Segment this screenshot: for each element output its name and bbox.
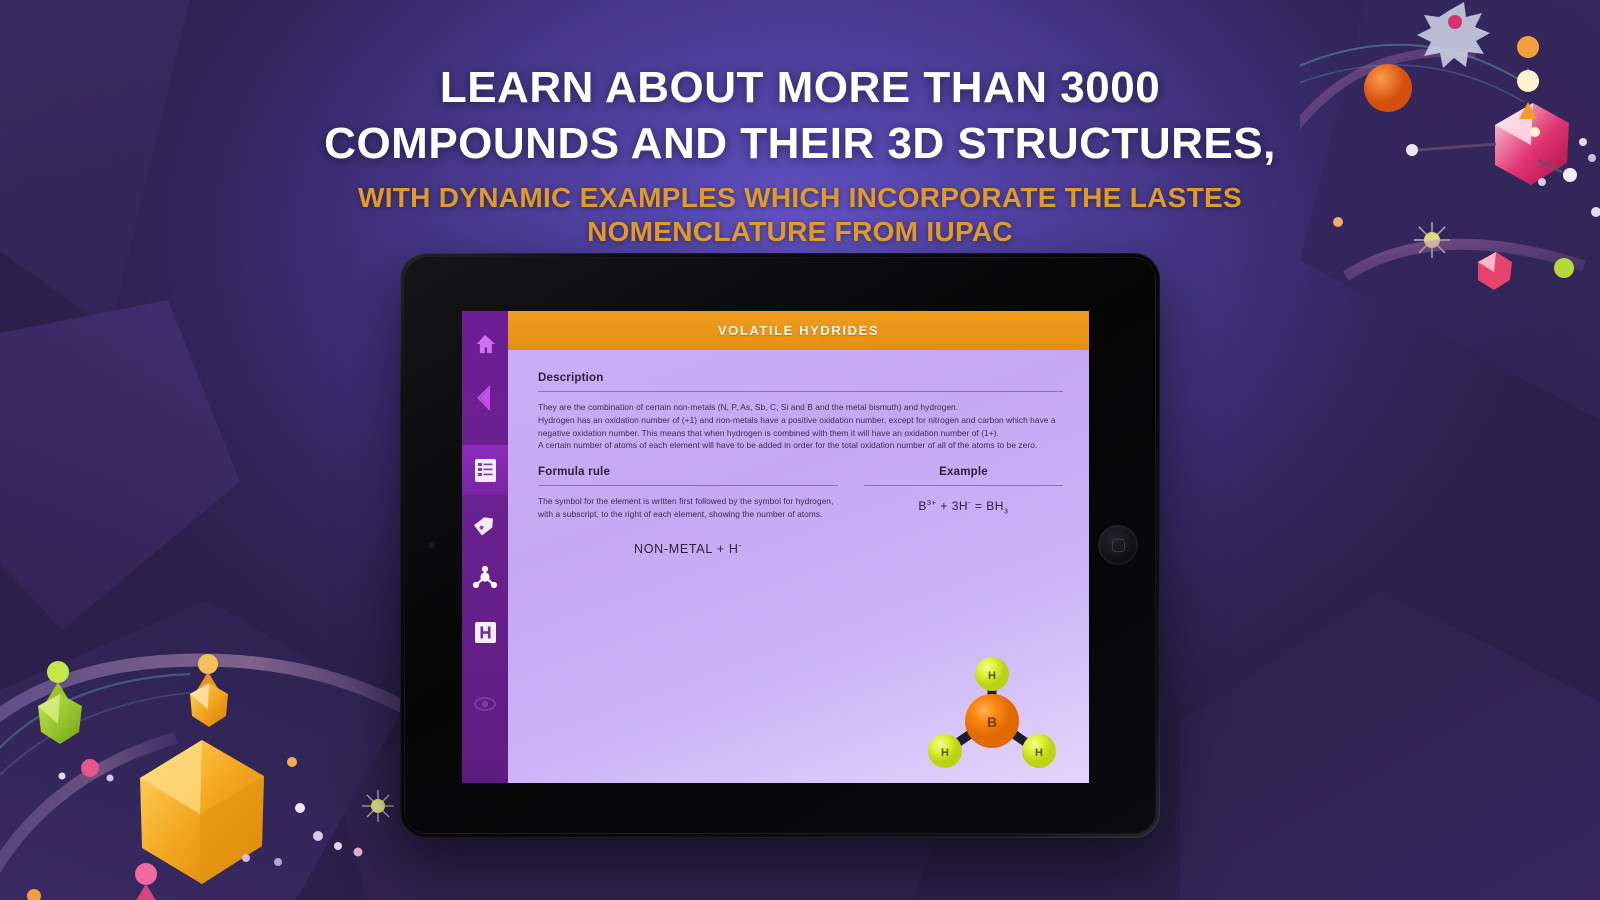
description-heading: Description: [538, 372, 1063, 384]
atom-hydrogen-right: H: [1022, 734, 1056, 768]
sidebar-item-home[interactable]: [462, 319, 508, 369]
app-sidebar: [462, 311, 508, 783]
headline-title: LEARN ABOUT MORE THAN 3000 COMPOUNDS AND…: [0, 60, 1600, 173]
atom-hydrogen-left: H: [928, 734, 962, 768]
home-icon: [474, 334, 496, 354]
equation-plus: +: [940, 499, 948, 513]
rotate-view-icon: [474, 694, 496, 714]
equation-reactant-1: B: [918, 499, 927, 513]
example-heading: Example: [864, 466, 1063, 478]
headline-block: LEARN ABOUT MORE THAN 3000 COMPOUNDS AND…: [0, 60, 1600, 249]
headline-subtitle-line-1: WITH DYNAMIC EXAMPLES WHICH INCORPORATE …: [358, 182, 1242, 213]
sidebar-item-back[interactable]: [462, 373, 508, 423]
list-document-icon: [474, 458, 497, 483]
sidebar-item-view[interactable]: [462, 679, 508, 729]
atom-boron-center: B: [965, 694, 1019, 748]
description-divider: [538, 391, 1063, 392]
example-divider: [864, 485, 1063, 486]
example-column: Example B3+ + 3H- = BH3: [864, 466, 1063, 556]
sidebar-item-structure[interactable]: [462, 553, 508, 603]
equation-product-subscript: 3: [1004, 506, 1009, 515]
sidebar-item-description[interactable]: [462, 445, 508, 495]
headline-title-line-2: COMPOUNDS AND THEIR 3D STRUCTURES,: [324, 119, 1276, 168]
content-body: Description They are the combination of …: [508, 350, 1089, 783]
formula-expression: NON-METAL + H-: [538, 541, 838, 556]
lower-columns: Formula rule The symbol for the element …: [538, 466, 1063, 556]
hydrogen-box-icon: [474, 621, 497, 644]
atom-label-h-left: H: [941, 747, 949, 759]
atom-label-h-right: H: [1035, 747, 1043, 759]
atom-label-h-top: H: [988, 670, 996, 682]
formula-rule-divider: [538, 485, 838, 486]
home-button-square-icon: [1112, 539, 1125, 552]
front-camera-icon: [428, 542, 435, 549]
formula-rule-heading: Formula rule: [538, 466, 838, 478]
atom-hydrogen-top: H: [975, 657, 1009, 691]
formula-rule-column: Formula rule The symbol for the element …: [538, 466, 838, 556]
atom-label-b-center: B: [987, 714, 997, 730]
molecule-diagram-bh3[interactable]: H H H B: [917, 647, 1067, 775]
description-paragraph-1: They are the combination of certain non-…: [538, 401, 1063, 414]
molecule-icon: [472, 566, 498, 590]
app-topbar: VOLATILE HYDRIDES: [508, 311, 1089, 350]
formula-rule-text: The symbol for the element is written fi…: [538, 495, 838, 521]
formula-expression-text: NON-METAL + H: [634, 542, 739, 556]
equation-reactant-1-charge: 3+: [927, 498, 937, 507]
headline-subtitle-line-2: NOMENCLATURE FROM IUPAC: [587, 216, 1013, 247]
description-paragraph-2: Hydrogen has an oxidation number of (+1)…: [538, 414, 1063, 440]
equation-product: BH: [986, 499, 1004, 513]
formula-expression-superscript: -: [739, 541, 742, 550]
example-equation: B3+ + 3H- = BH3: [864, 498, 1063, 515]
tablet-device: VOLATILE HYDRIDES Description They are t…: [400, 253, 1160, 838]
home-button[interactable]: [1098, 525, 1138, 565]
back-chevron-icon: [476, 385, 494, 411]
description-paragraph-3: A certain number of atoms of each elemen…: [538, 439, 1063, 452]
sidebar-item-elements[interactable]: [462, 607, 508, 657]
equation-reactant-2: H: [959, 499, 968, 513]
equation-equals: =: [975, 499, 983, 513]
tablet-screen: VOLATILE HYDRIDES Description They are t…: [462, 311, 1089, 783]
headline-title-line-1: LEARN ABOUT MORE THAN 3000: [440, 63, 1160, 112]
page-title: VOLATILE HYDRIDES: [718, 323, 879, 338]
app-content: VOLATILE HYDRIDES Description They are t…: [508, 311, 1089, 783]
equation-reactant-2-charge: -: [968, 498, 971, 507]
headline-subtitle: WITH DYNAMIC EXAMPLES WHICH INCORPORATE …: [0, 181, 1600, 249]
equation-reactant-2-coefficient: 3: [952, 499, 959, 513]
tag-icon: [473, 512, 498, 537]
sidebar-item-nomenclature[interactable]: [462, 499, 508, 549]
